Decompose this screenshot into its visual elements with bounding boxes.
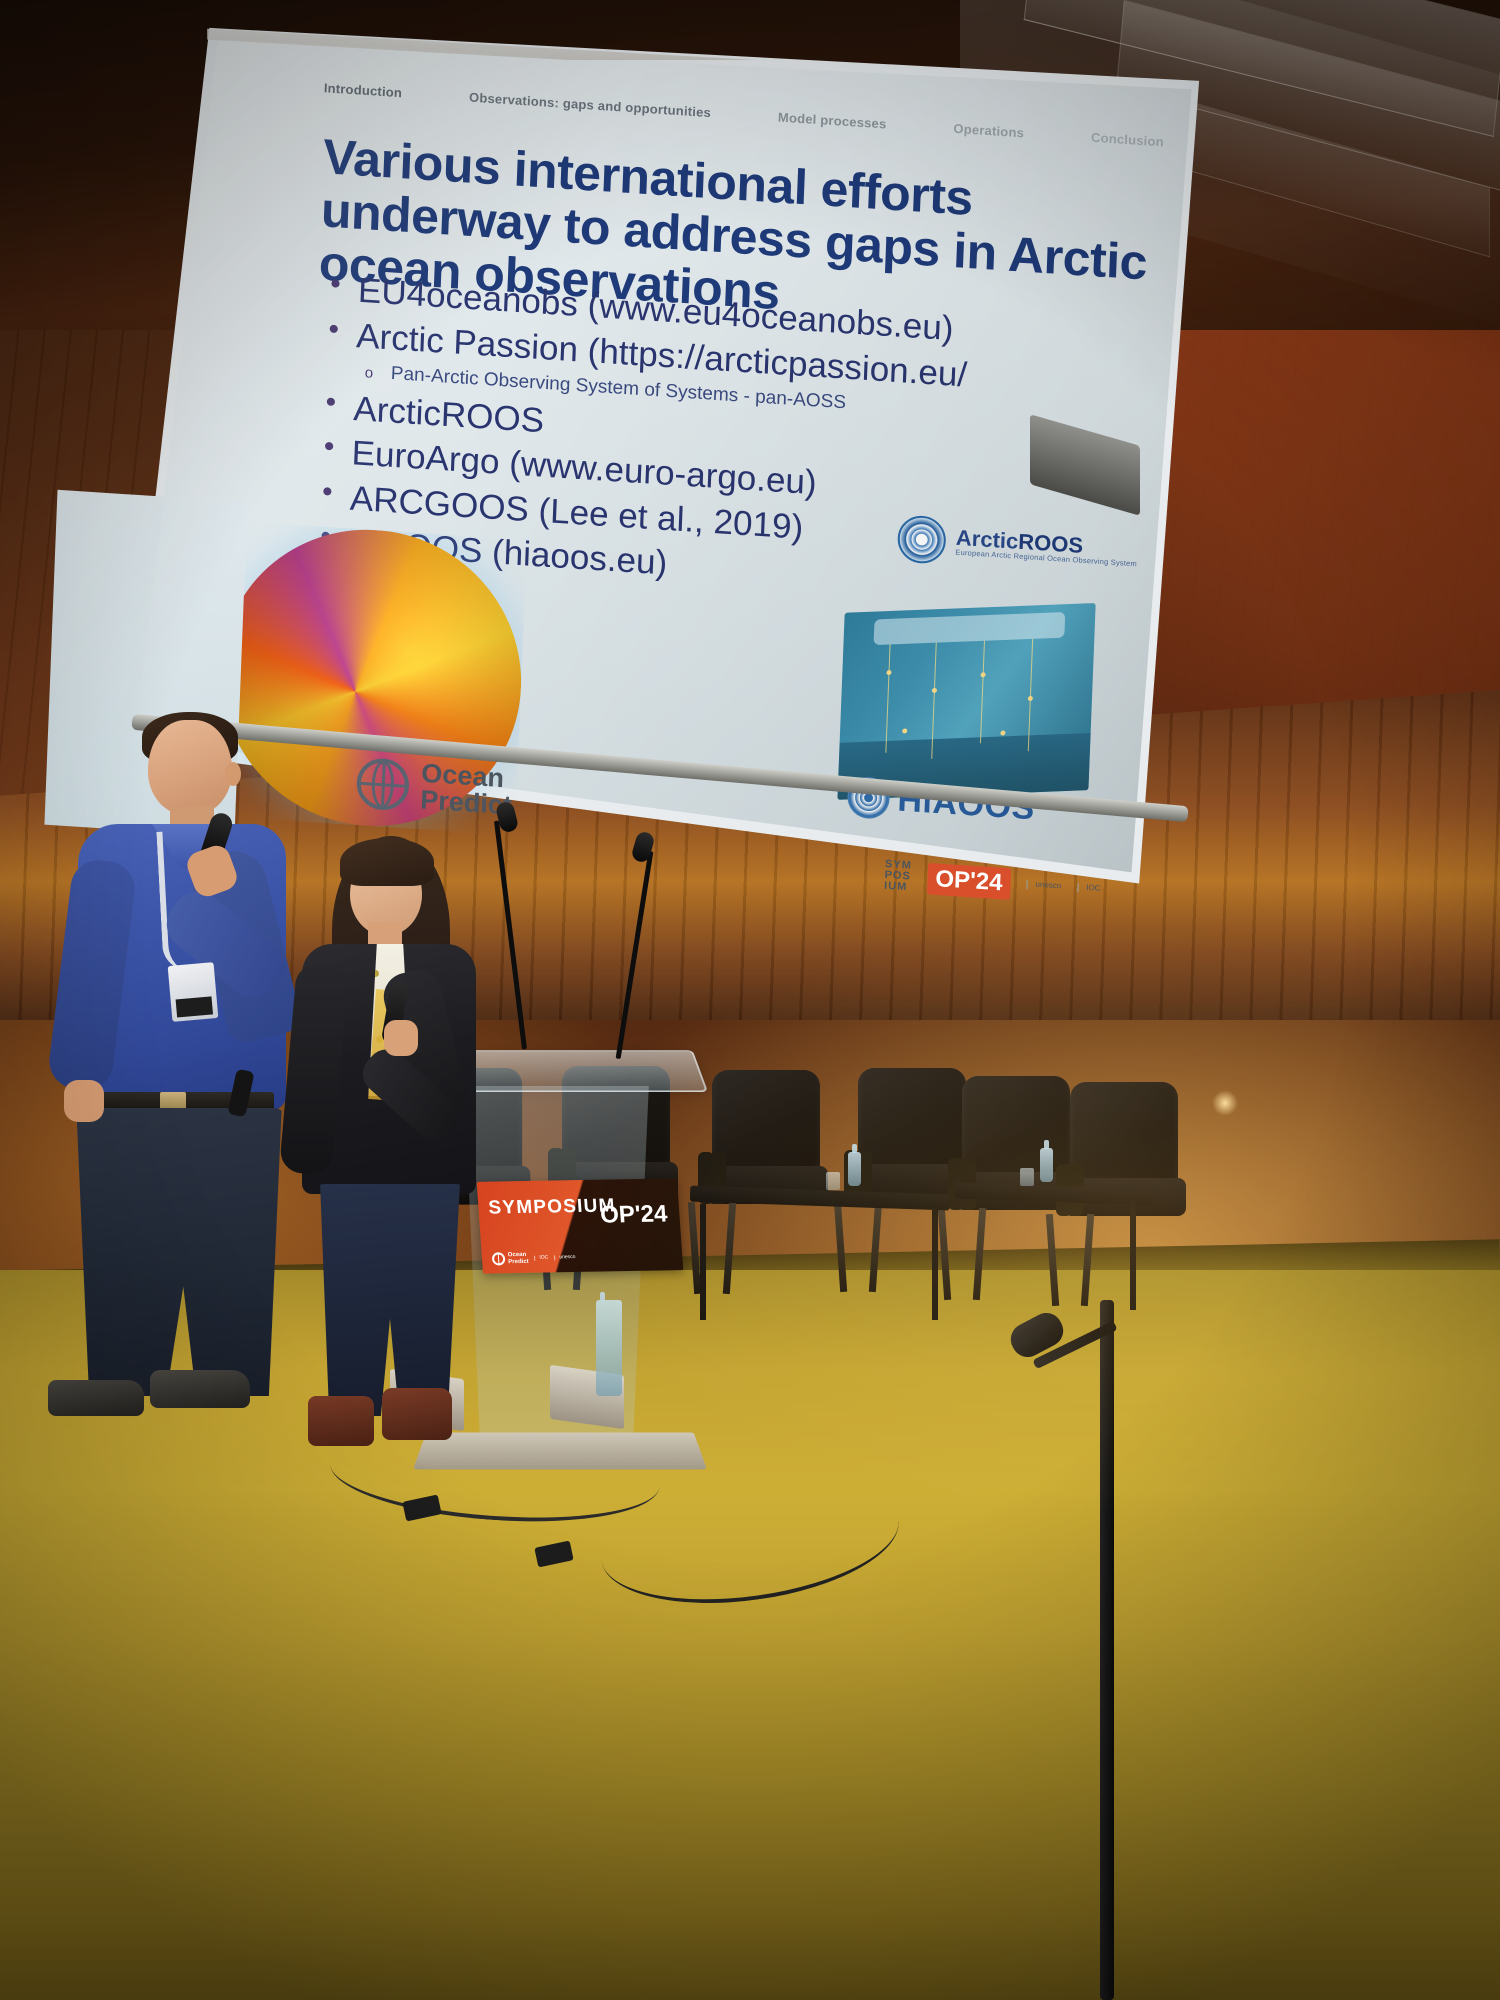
water-bottle (1040, 1148, 1053, 1182)
nav-item-observations: Observations: gaps and opportunities (469, 90, 712, 120)
nav-item-conclusion: Conclusion (1091, 130, 1164, 149)
nav-item-introduction: Introduction (324, 80, 403, 100)
speaker-left (20, 720, 320, 1420)
symposium-line3: IUM (884, 881, 911, 894)
hiaoos-ice-layer (874, 612, 1066, 645)
floor-mic-pole (1100, 1300, 1114, 2000)
table-leg (932, 1210, 938, 1320)
table-leg (700, 1204, 706, 1320)
hair-front (340, 838, 434, 886)
wall-light (1212, 1090, 1238, 1116)
left-hand (64, 1080, 104, 1122)
drinking-glass (826, 1172, 840, 1190)
ear (225, 762, 241, 786)
head (148, 720, 232, 816)
op24-badge: OP'24 (927, 862, 1011, 899)
photo-scene: Introduction Observations: gaps and oppo… (0, 0, 1500, 2000)
right-hand (384, 1020, 418, 1056)
ioc-logo: IOC (1077, 883, 1101, 893)
shoe (48, 1380, 144, 1416)
nav-item-model-processes: Model processes (778, 110, 887, 132)
arcticroos-mark-icon (897, 514, 947, 564)
podium-op-line2: Predict (508, 1258, 529, 1265)
podium-op24-badge: OP'24 (599, 1203, 668, 1228)
speaker-right (280, 840, 510, 1460)
podium-op-line1: Ocean (508, 1252, 529, 1259)
jeans (314, 1184, 466, 1416)
drinking-glass (1020, 1168, 1034, 1186)
water-bottle (596, 1300, 622, 1396)
water-bottle (848, 1152, 861, 1186)
shoe (150, 1370, 250, 1408)
table-leg (1130, 1200, 1136, 1310)
unesco-logo: unesco (1026, 880, 1061, 891)
podium-unesco-logo: unesco (554, 1255, 576, 1261)
hiaoos-diagram-image (837, 603, 1095, 800)
oceanpredict-logo: Ocean Predict (356, 756, 514, 819)
trousers (72, 1108, 286, 1396)
nav-item-operations: Operations (953, 121, 1024, 140)
symposium-wordmark: SYM POS IUM (884, 859, 912, 893)
slide-sponsor-logos: SYM POS IUM OP'24 unesco IOC (884, 859, 1101, 905)
podium-ioc-logo: IOC (534, 1255, 548, 1261)
name-badge (168, 962, 219, 1022)
globe-icon (356, 757, 410, 812)
